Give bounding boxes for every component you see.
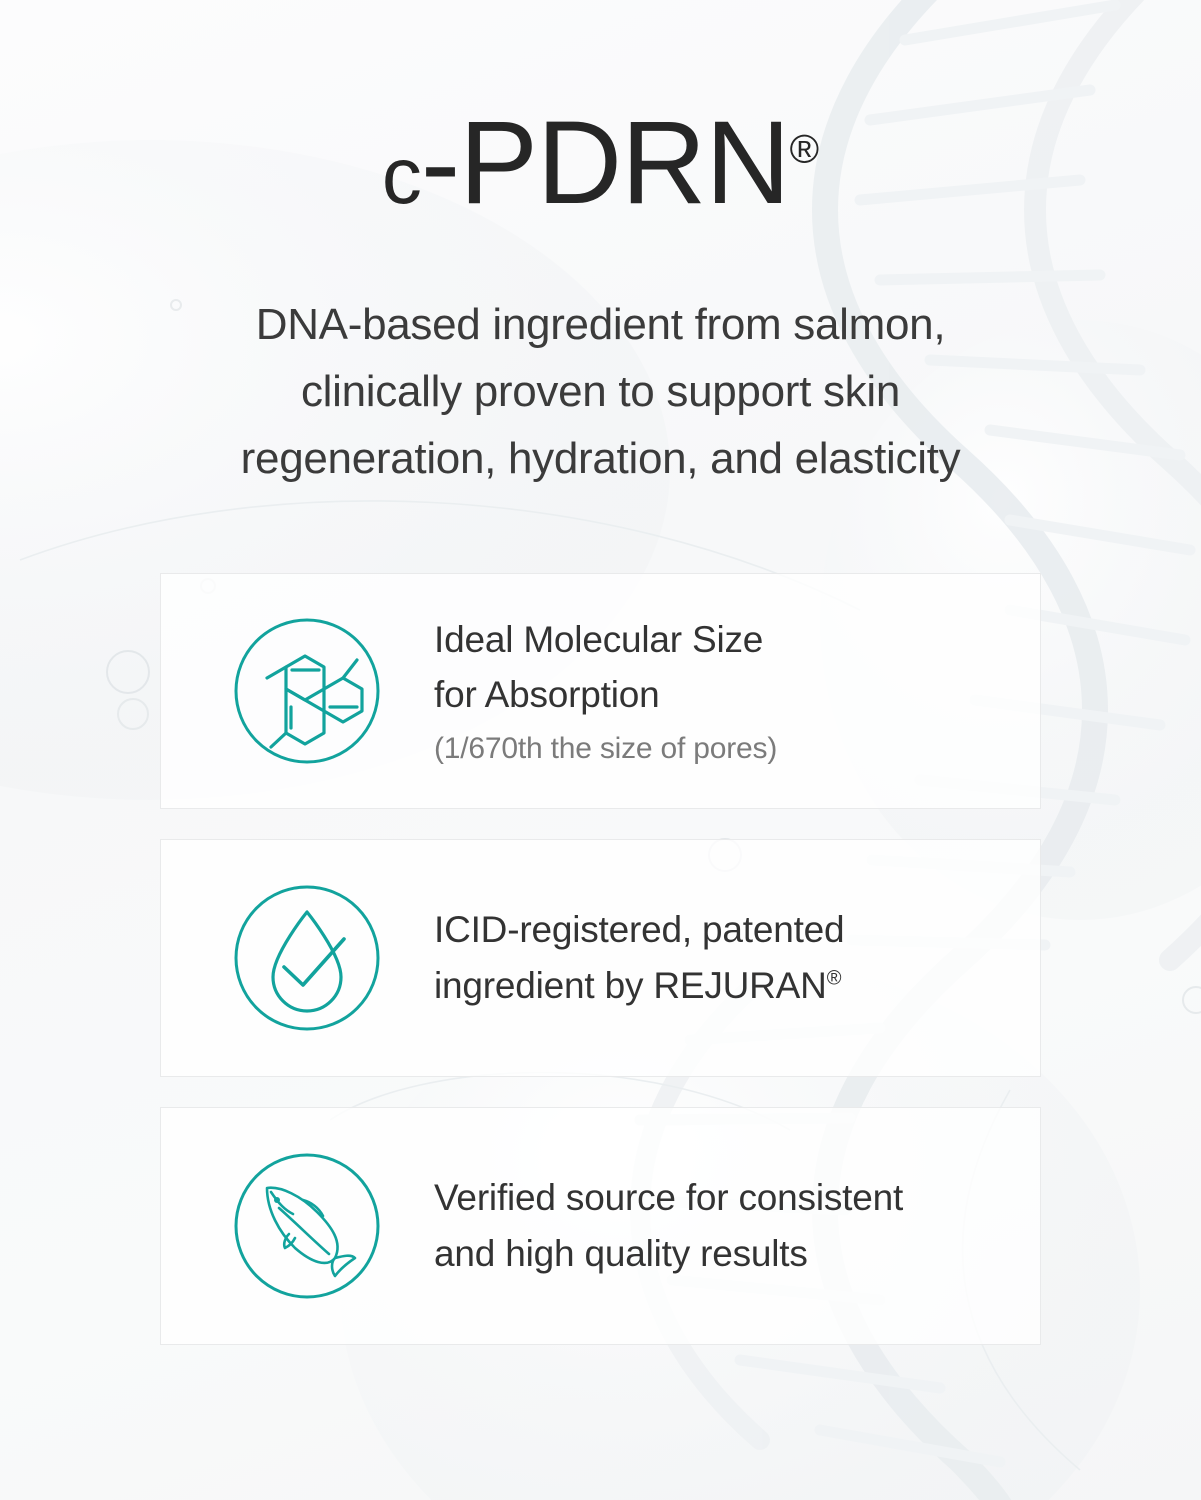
subtitle-line-3: regeneration, hydration, and elasticity [161, 426, 1041, 493]
product-ingredient-infographic: c-PDRN® DNA-based ingredient from salmon… [0, 0, 1201, 1500]
card-heading-line-2-text: ingredient by REJURAN [434, 965, 827, 1006]
page-subtitle: DNA-based ingredient from salmon, clinic… [161, 292, 1041, 493]
page-title: c-PDRN® [0, 104, 1201, 222]
card-heading: ICID-registered, patented ingredient by … [434, 902, 844, 1013]
header: c-PDRN® DNA-based ingredient from salmon… [0, 0, 1201, 493]
feature-card-verified-source: Verified source for consistent and high … [160, 1107, 1041, 1345]
card-heading: Ideal Molecular Size for Absorption [434, 612, 777, 723]
brand-main: -PDRN [421, 97, 790, 229]
subtitle-line-2: clinically proven to support skin [161, 359, 1041, 426]
feature-card-icid-registered: ICID-registered, patented ingredient by … [160, 839, 1041, 1077]
card-heading-line-1: Ideal Molecular Size [434, 612, 777, 668]
registered-trademark-icon: ® [827, 967, 842, 989]
card-text-block: Verified source for consistent and high … [434, 1170, 927, 1281]
subtitle-line-1: DNA-based ingredient from salmon, [161, 292, 1041, 359]
salmon-fish-icon [231, 1150, 383, 1302]
water-drop-check-icon [231, 882, 383, 1034]
card-heading: Verified source for consistent and high … [434, 1170, 903, 1281]
icon-container [229, 615, 384, 767]
card-heading-line-2: and high quality results [434, 1226, 903, 1282]
molecule-icon [231, 615, 383, 767]
icon-container [229, 882, 384, 1034]
card-note: (1/670th the size of pores) [434, 729, 777, 770]
card-text-block: Ideal Molecular Size for Absorption (1/6… [434, 612, 801, 770]
card-heading-line-1: Verified source for consistent [434, 1170, 903, 1226]
feature-card-molecular-size: Ideal Molecular Size for Absorption (1/6… [160, 573, 1041, 809]
feature-card-list: Ideal Molecular Size for Absorption (1/6… [0, 573, 1201, 1345]
card-heading-line-2: ingredient by REJURAN® [434, 958, 844, 1014]
card-heading-line-1: ICID-registered, patented [434, 902, 844, 958]
card-heading-line-2: for Absorption [434, 667, 777, 723]
icon-container [229, 1150, 384, 1302]
registered-trademark-icon: ® [790, 128, 819, 172]
brand-prefix: c [382, 131, 421, 220]
card-text-block: ICID-registered, patented ingredient by … [434, 902, 868, 1013]
